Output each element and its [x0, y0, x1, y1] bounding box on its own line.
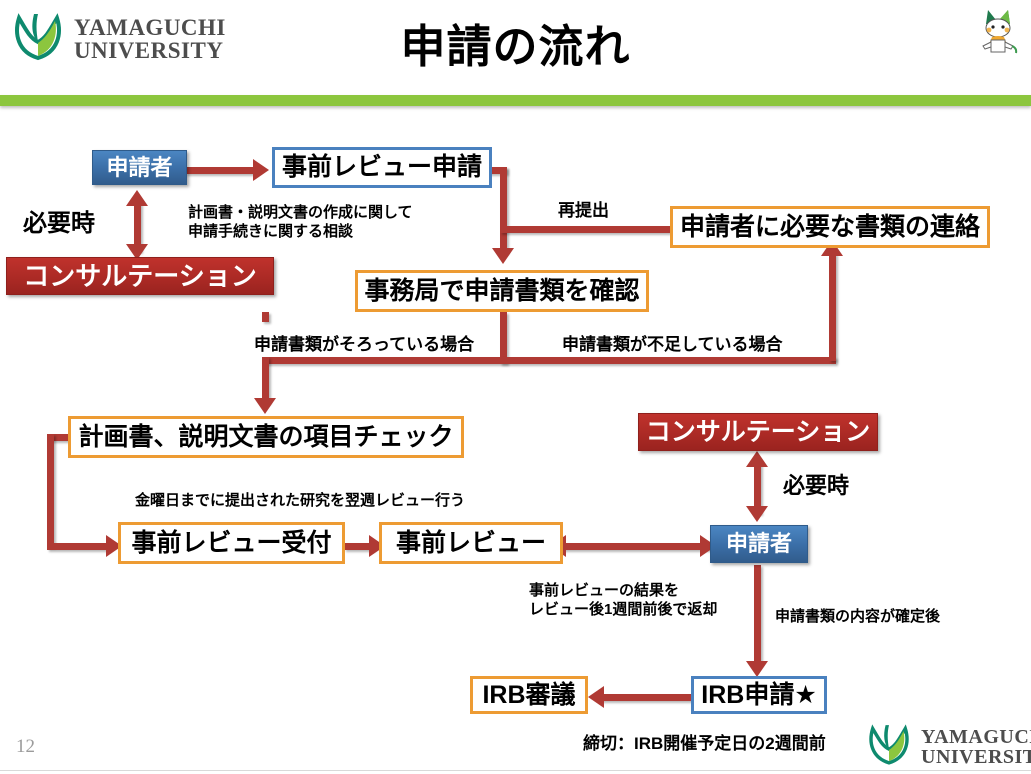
header-green-divider: [0, 95, 1031, 106]
note-after-fixed: 申請書類の内容が確定後: [775, 608, 940, 627]
node-label: 計画書、説明文書の項目チェック: [78, 425, 453, 450]
mascot-icon: [972, 4, 1024, 56]
university-logo: YAMAGUCHI UNIVERSITY: [10, 8, 226, 69]
arrowhead-right: [253, 159, 269, 181]
note-return-result: 事前レビューの結果を レビュー後1週間前後で返却: [529, 582, 717, 620]
node-label: IRB申請★: [701, 683, 816, 708]
connector-missing-docs-up: [829, 253, 836, 361]
connector-office-down: [262, 312, 269, 322]
connector-review-applicant: [562, 543, 710, 550]
connector-applicant-to-prereview: [185, 167, 257, 174]
footer-logo-line-1: YAMAGUCHI: [921, 727, 1031, 747]
node-applicant-top[interactable]: 申請者: [92, 150, 187, 185]
connector-to-reception: [47, 543, 110, 550]
node-label: 申請者に必要な書類の連絡: [680, 215, 980, 240]
connector-missing-docs-right: [500, 357, 836, 364]
connector-applicant-to-irb: [754, 565, 761, 665]
yamaguchi-logo-icon: [10, 8, 66, 69]
node-notify-documents[interactable]: 申請者に必要な書類の連絡: [670, 206, 990, 248]
logo-line-1: YAMAGUCHI: [74, 16, 226, 39]
node-label: 事務局で申請書類を確認: [364, 279, 639, 304]
connector-resubmit: [500, 226, 672, 233]
slide-canvas: 申請の流れ YAMAGUCHI UNIVERSITY: [0, 0, 1031, 774]
arrowhead-up: [126, 190, 148, 206]
connector-office-trunk: [500, 312, 507, 360]
node-label: コンサルテーション: [23, 263, 256, 289]
note-when-needed-right: 必要時: [783, 472, 849, 500]
arrowhead-left: [588, 686, 604, 708]
node-consultation-right[interactable]: コンサルテーション: [638, 413, 878, 451]
note-friday-rule: 金曜日までに提出された研究を翌週レビュー行う: [135, 492, 465, 511]
node-pre-review[interactable]: 事前レビュー: [379, 522, 563, 564]
node-consultation-left[interactable]: コンサルテーション: [6, 257, 274, 295]
node-pre-review-request[interactable]: 事前レビュー申請: [272, 147, 492, 188]
note-resubmit: 再提出: [558, 200, 609, 221]
node-label: コンサルテーション: [646, 420, 871, 445]
node-pre-review-reception[interactable]: 事前レビュー受付: [118, 522, 345, 564]
node-item-check[interactable]: 計画書、説明文書の項目チェック: [68, 416, 464, 458]
node-label: IRB審議: [482, 683, 575, 708]
page-number: 12: [16, 736, 35, 758]
arrowhead-down: [746, 506, 768, 522]
node-irb-application[interactable]: IRB申請★: [691, 676, 827, 714]
arrowhead-down: [254, 398, 276, 414]
note-docs-complete: 申請書類がそろっている場合: [254, 334, 474, 355]
arrowhead-down: [492, 248, 514, 264]
footer-logo-line-2: UNIVERSITY: [921, 747, 1031, 767]
node-label: 事前レビュー: [396, 531, 546, 556]
note-consult-detail: 計画書・説明文書の作成に関して 申請手続きに関する相談: [188, 204, 413, 242]
connector-prereview-down: [500, 167, 507, 253]
node-office-check[interactable]: 事務局で申請書類を確認: [355, 270, 649, 312]
logo-line-2: UNIVERSITY: [74, 39, 226, 62]
footer-university-logo: YAMAGUCHI UNIVERSITY: [865, 720, 1031, 773]
note-when-needed-left: 必要時: [23, 209, 95, 239]
node-applicant-bottom[interactable]: 申請者: [710, 525, 808, 563]
footer-logo-text: YAMAGUCHI UNIVERSITY: [921, 727, 1031, 767]
node-irb-review[interactable]: IRB審議: [470, 676, 588, 714]
connector-to-itemcheck: [262, 357, 269, 403]
connector-office-to-left: [262, 357, 507, 364]
connector-itemcheck-down: [47, 434, 54, 547]
connector-irb-application-to-review: [600, 694, 696, 701]
arrowhead-down: [746, 661, 768, 677]
node-label: 事前レビュー受付: [131, 531, 331, 556]
yamaguchi-logo-icon: [865, 720, 913, 773]
node-label: 事前レビュー申請: [282, 155, 482, 180]
note-deadline: 締切：IRB開催予定日の2週間前: [583, 733, 826, 754]
note-docs-missing: 申請書類が不足している場合: [562, 334, 783, 355]
university-logo-text: YAMAGUCHI UNIVERSITY: [74, 16, 226, 62]
footer-divider: [0, 770, 1031, 771]
node-label: 申請者: [106, 157, 172, 179]
arrowhead-up: [746, 451, 768, 467]
node-label: 申請者: [726, 533, 792, 555]
